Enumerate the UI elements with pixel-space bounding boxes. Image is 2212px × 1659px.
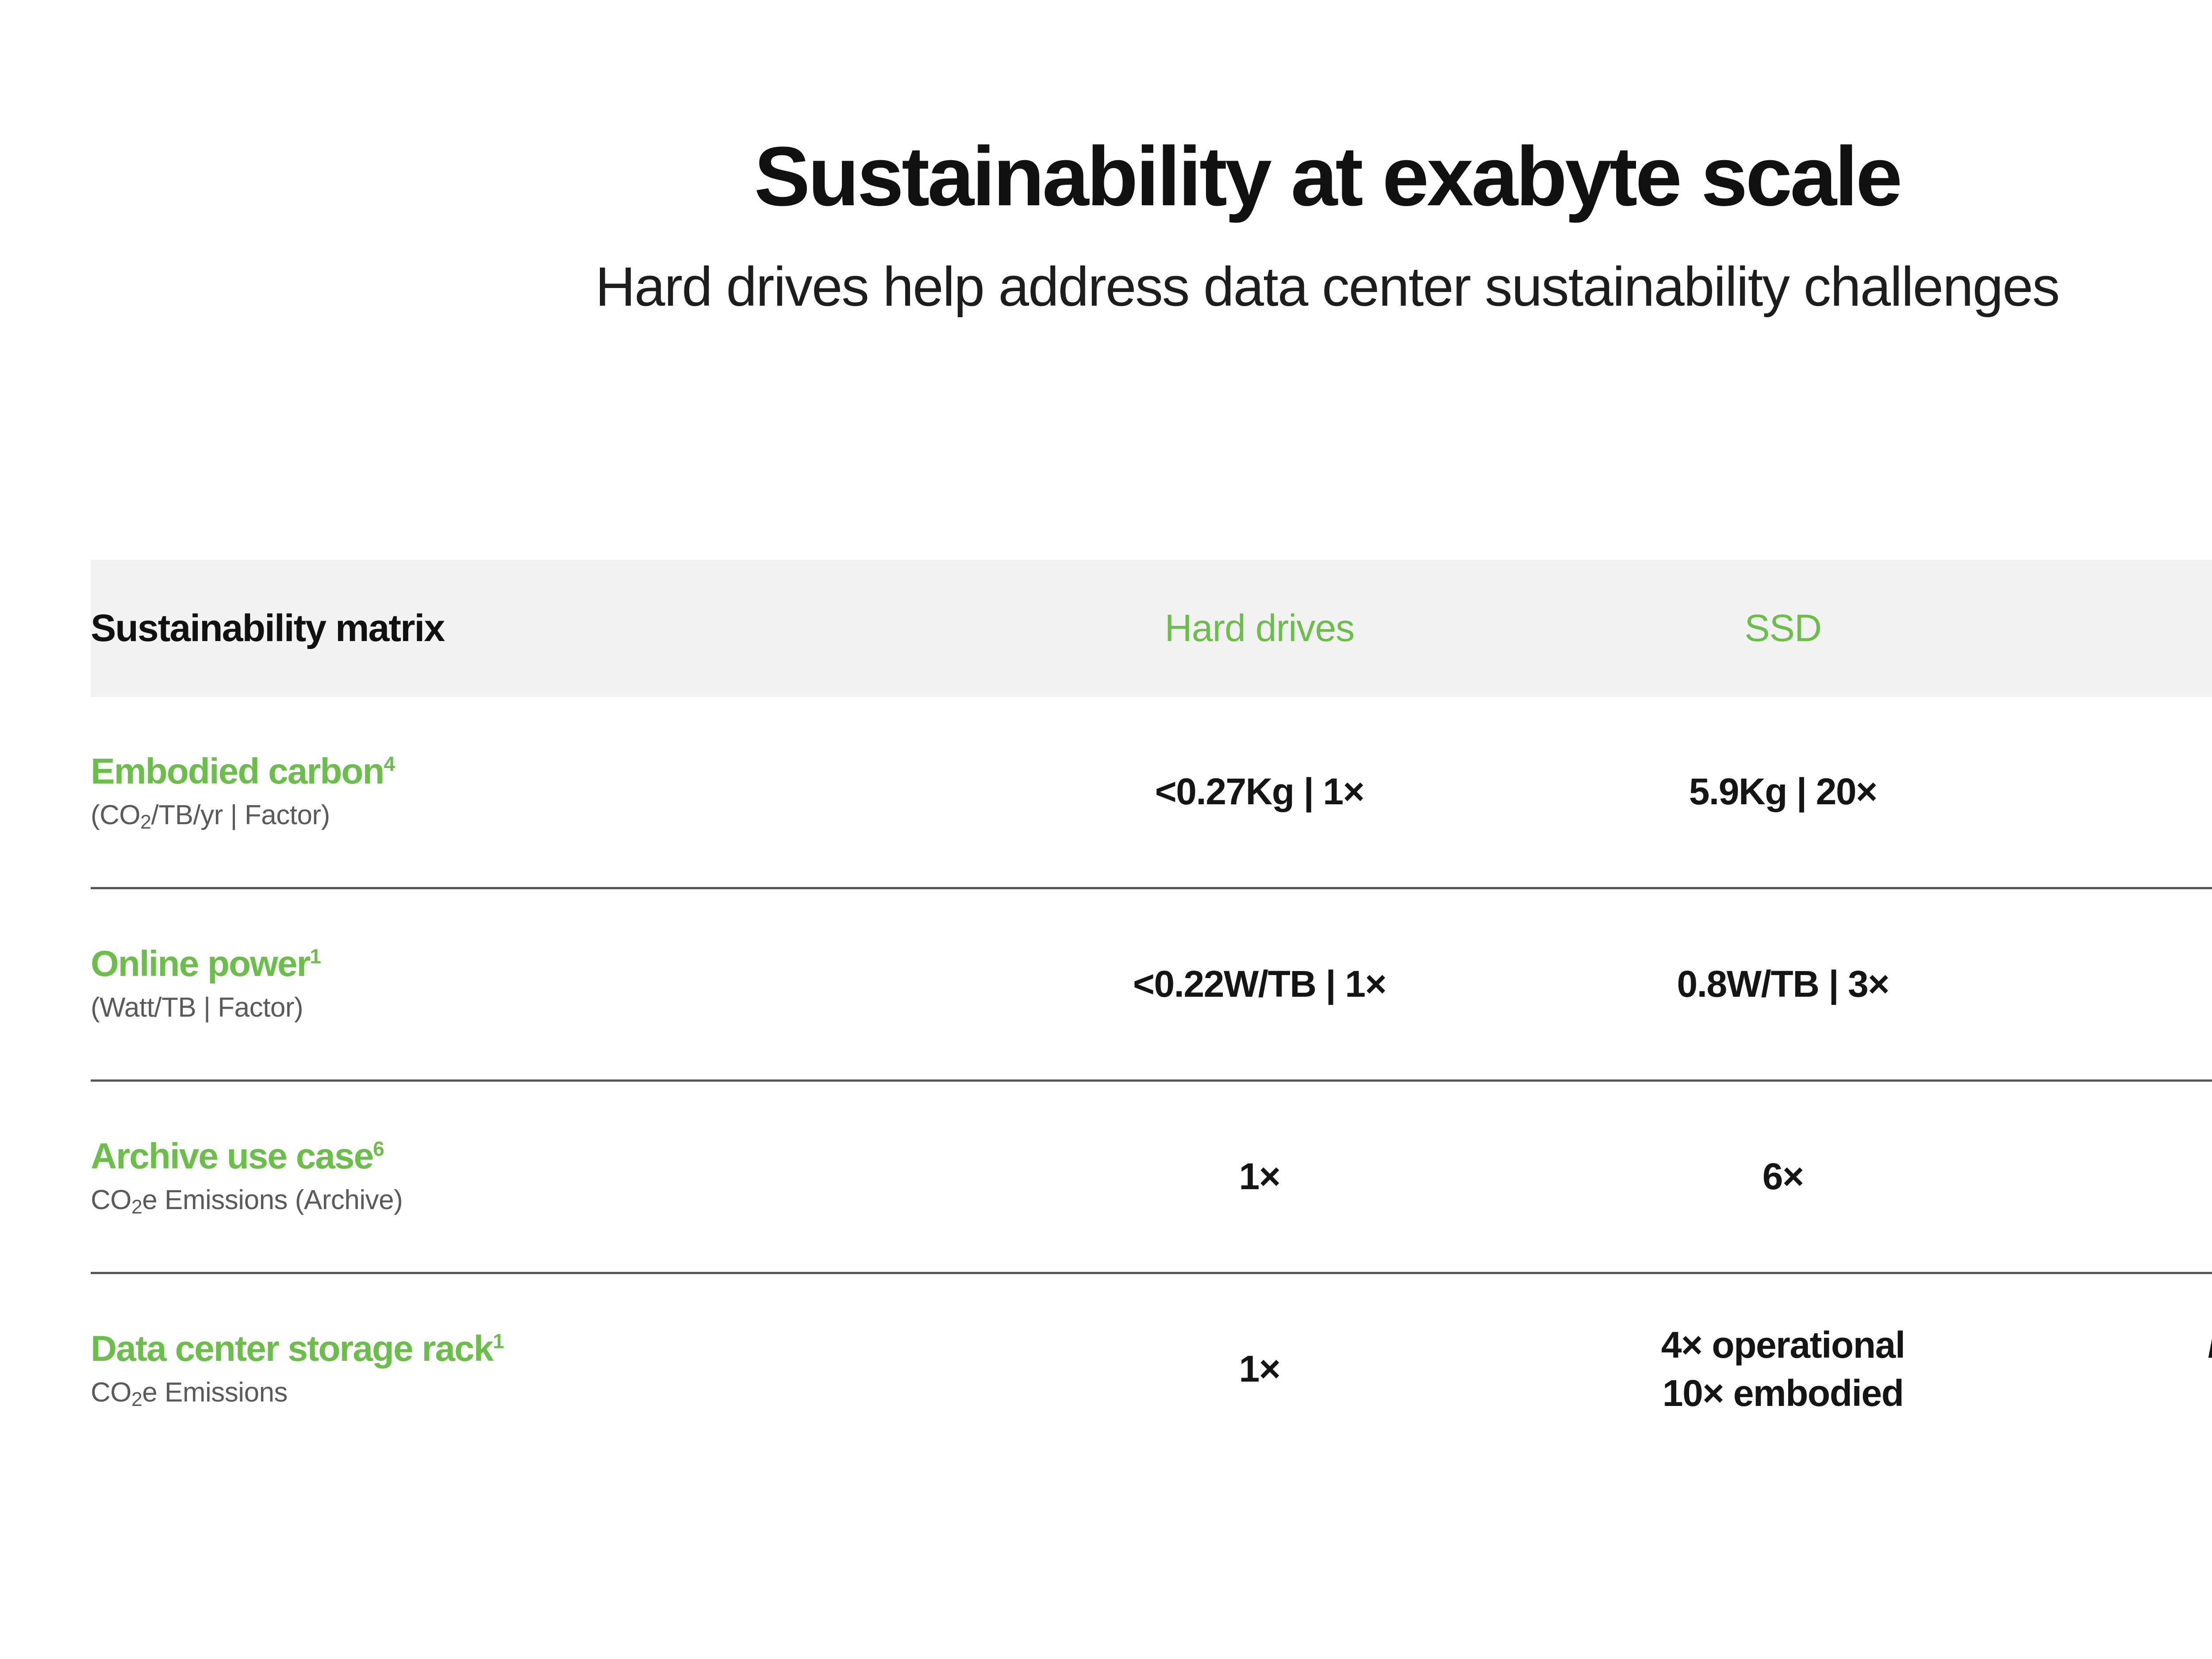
table-row: Online power1(Watt/TB | Factor)<0.22W/TB… xyxy=(91,888,2212,1081)
row-subtitle-post: /TB/yr | Factor) xyxy=(151,800,330,830)
column-header-hdd: Hard drives xyxy=(998,560,1521,697)
row-title-footnote: 1 xyxy=(493,1329,503,1352)
cell-hdd: <0.27Kg | 1× xyxy=(998,697,1521,888)
cell-value-line: 4× operational xyxy=(1521,1321,2045,1369)
cell-tape: 2–5× xyxy=(2045,1081,2212,1273)
cell-value-line: <0.22W/TB | 1× xyxy=(998,960,1521,1008)
row-title-text: Data center storage rack xyxy=(91,1329,493,1369)
row-subtitle-subscript: 2 xyxy=(131,1196,142,1218)
row-subtitle: CO2e Emissions xyxy=(91,1376,998,1409)
column-header-ssd: SSD xyxy=(1521,560,2045,697)
row-label-cell: Archive use case6CO2e Emissions (Archive… xyxy=(91,1081,998,1273)
cell-value-line: <0.6Kg | 3× xyxy=(2045,768,2212,816)
row-subtitle-post: e Emissions xyxy=(142,1377,288,1408)
column-header-tape: Tape xyxy=(2045,560,2212,697)
row-title-footnote: 6 xyxy=(373,1137,384,1160)
row-subtitle-pre: (CO xyxy=(91,800,140,830)
row-title: Embodied carbon4 xyxy=(91,752,998,791)
cell-tape: 1W/TB | 5× xyxy=(2045,888,2212,1081)
row-subtitle-pre: (Watt/TB | Factor) xyxy=(91,992,303,1023)
row-title: Online power1 xyxy=(91,945,998,984)
cell-ssd: 0.8W/TB | 3× xyxy=(1521,888,2045,1081)
row-label-cell: Data center storage rack1CO2e Emissions xyxy=(91,1273,998,1465)
row-subtitle-subscript: 2 xyxy=(131,1389,142,1410)
row-title: Archive use case6 xyxy=(91,1137,998,1176)
cell-value-line: 0.8W/TB | 3× xyxy=(1521,960,2045,1008)
cell-ssd: 5.9Kg | 20× xyxy=(1521,697,2045,888)
header-block: Sustainability at exabyte scale Hard dri… xyxy=(0,133,2212,317)
cell-ssd: 4× operational10× embodied xyxy=(1521,1273,2045,1465)
row-title-text: Archive use case xyxy=(91,1136,373,1176)
cell-ssd: 6× xyxy=(1521,1081,2045,1273)
row-subtitle-post: e Emissions (Archive) xyxy=(142,1185,403,1215)
cell-tape: <0.6Kg | 3× xyxy=(2045,697,2212,888)
row-title-footnote: 4 xyxy=(384,752,395,775)
cell-value-line: 6× xyxy=(1521,1152,2045,1201)
row-title-text: Embodied carbon xyxy=(91,751,384,791)
table-row: Archive use case6CO2e Emissions (Archive… xyxy=(91,1081,2212,1273)
cell-value-line: disclosed xyxy=(2045,1369,2212,1417)
table-header-row: Sustainability matrixHard drivesSSDTape xyxy=(91,560,2212,697)
page-title: Sustainability at exabyte scale xyxy=(0,133,2212,221)
cell-value-line: <0.27Kg | 1× xyxy=(998,768,1521,816)
cell-hdd: 1× xyxy=(998,1081,1521,1273)
cell-value-line: 5.9Kg | 20× xyxy=(1521,768,2045,816)
cell-value-line: 1× xyxy=(998,1152,1521,1201)
cell-hdd: 1× xyxy=(998,1273,1521,1465)
row-subtitle-pre: CO xyxy=(91,1185,131,1215)
row-subtitle: CO2e Emissions (Archive) xyxy=(91,1184,998,1217)
row-title-footnote: 1 xyxy=(310,945,320,968)
row-subtitle: (Watt/TB | Factor) xyxy=(91,991,998,1024)
row-subtitle-subscript: 2 xyxy=(140,811,151,833)
table-row: Embodied carbon4(CO2/TB/yr | Factor)<0.2… xyxy=(91,697,2212,888)
table-row: Data center storage rack1CO2e Emissions1… xyxy=(91,1273,2212,1465)
row-subtitle-pre: CO xyxy=(91,1377,131,1408)
cell-tape: Not publicydisclosed xyxy=(2045,1273,2212,1465)
cell-value-line: 1W/TB | 5× xyxy=(2045,960,2212,1008)
cell-hdd: <0.22W/TB | 1× xyxy=(998,888,1521,1081)
cell-value-line: 10× embodied xyxy=(1521,1369,2045,1417)
row-label-cell: Embodied carbon4(CO2/TB/yr | Factor) xyxy=(91,697,998,888)
page-subtitle: Hard drives help address data center sus… xyxy=(0,257,2212,318)
row-subtitle: (CO2/TB/yr | Factor) xyxy=(91,799,998,832)
column-header-matrix: Sustainability matrix xyxy=(91,560,998,697)
cell-value-line: Not publicy xyxy=(2045,1321,2212,1369)
slide-root: Sustainability at exabyte scale Hard dri… xyxy=(0,0,2212,1659)
row-title: Data center storage rack1 xyxy=(91,1329,998,1369)
row-title-text: Online power xyxy=(91,944,310,984)
cell-value-line: 2–5× xyxy=(2045,1152,2212,1201)
cell-value-line: 1× xyxy=(998,1345,1521,1393)
row-label-cell: Online power1(Watt/TB | Factor) xyxy=(91,888,998,1081)
sustainability-matrix-table: Sustainability matrixHard drivesSSDTapeE… xyxy=(91,560,2212,1464)
